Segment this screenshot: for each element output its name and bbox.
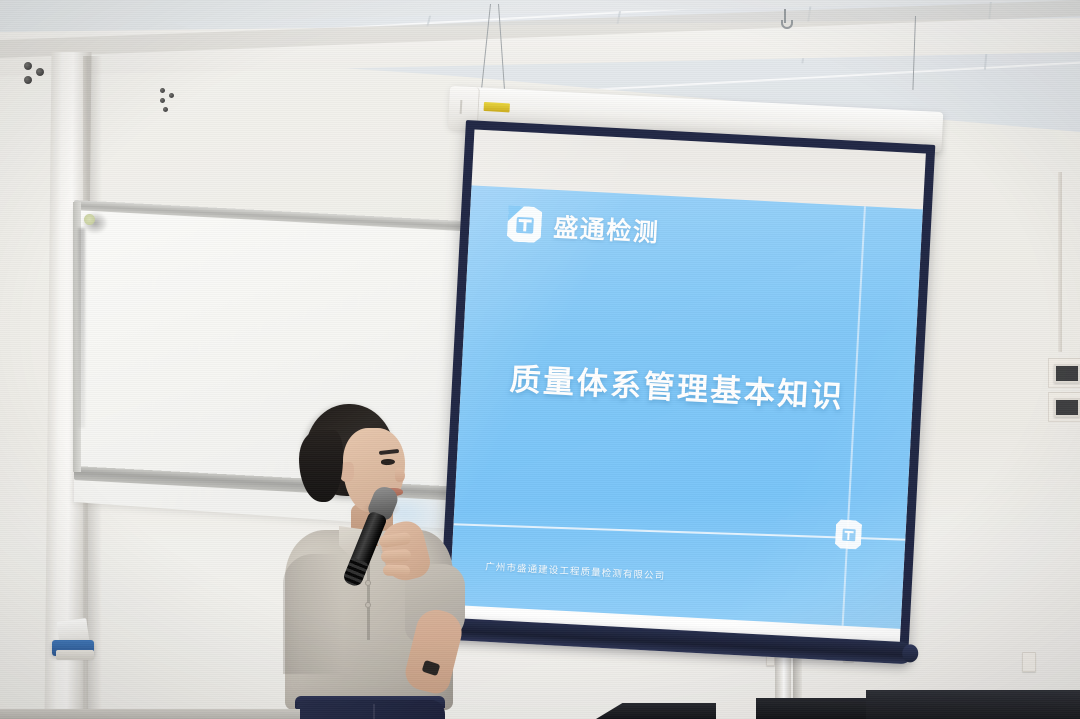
presenter-trouser-seam [373, 704, 375, 719]
screen-surface: 盛通检测 质量体系管理基本知识 广州市盛通建设工程质量检测有限公司 [448, 129, 925, 642]
dark-cabinet-mid [756, 698, 876, 719]
slide-brand-lockup: 盛通检测 [507, 205, 661, 249]
projected-slide: 盛通检测 质量体系管理基本知识 广州市盛通建设工程质量检测有限公司 [449, 185, 923, 628]
slide-brand-name: 盛通检测 [553, 208, 661, 250]
ceiling-hook-icon [781, 9, 789, 27]
wall-socket-right [1022, 652, 1036, 672]
presenter-finger-2 [381, 549, 412, 563]
whiteboard-magnet [84, 214, 95, 225]
projection-screen-assembly: 盛通检测 质量体系管理基本知识 广州市盛通建设工程质量检测有限公司 [452, 88, 962, 668]
presenter-trousers [295, 700, 445, 719]
whiteboard-edge-mark [78, 228, 85, 428]
presenter-shirt-button-1 [365, 580, 371, 586]
slide-title: 质量体系管理基本知识 [460, 351, 914, 420]
floor-edge-left [0, 709, 300, 719]
warning-sticker-icon [484, 102, 510, 112]
presenter-hair-side [299, 430, 343, 502]
wall-ledge [56, 650, 94, 660]
wall-panel-2 [1054, 398, 1080, 417]
wall-panel-1 [1054, 364, 1080, 383]
projection-screen: 盛通检测 质量体系管理基本知识 广州市盛通建设工程质量检测有限公司 [437, 120, 935, 684]
shengtong-watermark-icon [835, 519, 863, 549]
presenter-finger-3 [383, 565, 410, 577]
wall-conduit [1058, 172, 1062, 352]
shengtong-logo-icon [507, 205, 543, 243]
presentation-scene: 盛通检测 质量体系管理基本知识 广州市盛通建设工程质量检测有限公司 [0, 0, 1080, 719]
slide-company-footer: 广州市盛通建设工程质量检测有限公司 [485, 559, 666, 583]
presenter [255, 404, 485, 719]
presenter-nose [395, 468, 405, 482]
presenter-shirt-button-2 [365, 602, 371, 608]
presenter-shoulder-shadow [283, 554, 343, 674]
dark-cabinet-right [866, 690, 1080, 719]
